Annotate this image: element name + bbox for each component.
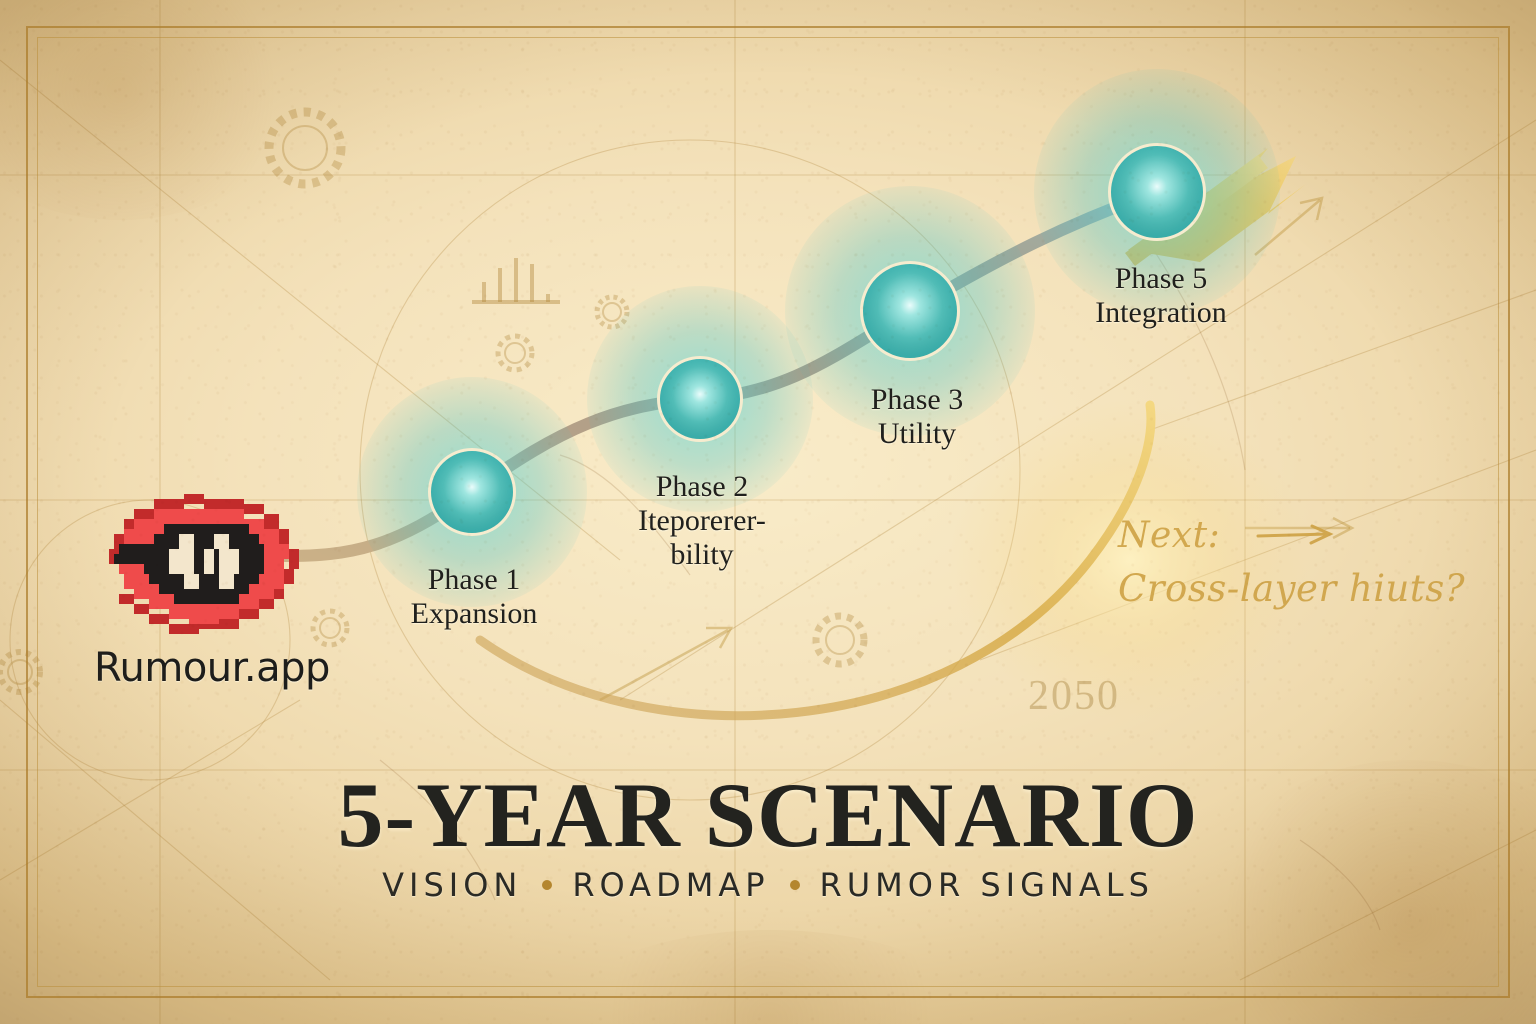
pixel-lips-logo-icon (109, 494, 309, 639)
paper-stain (0, 0, 300, 220)
subtitle-part-roadmap: ROADMAP (572, 866, 769, 904)
node-label-phase-3: Phase 3 Utility (871, 383, 964, 451)
subtitle: VISION ROADMAP RUMOR SIGNALS (0, 866, 1536, 904)
node-orb (428, 448, 516, 536)
brand-logo[interactable]: Rumour.app (94, 494, 324, 691)
note-line-2: Cross-layer hiuts? (1118, 562, 1478, 616)
brand-name: Rumour.app (94, 645, 324, 691)
separator-dot-icon (542, 880, 552, 890)
node-label-phase-1: Phase 1 Expansion (411, 563, 538, 631)
node-orb (860, 261, 960, 361)
page-title: 5-YEAR SCENARIO (0, 762, 1536, 868)
poster-canvas: Phase 1 Expansion Phase 2 Iteporerer- bi… (0, 0, 1536, 1024)
year-stamp: 2050 (1028, 672, 1120, 720)
paper-stain (560, 930, 980, 1024)
node-label-phase-2: Phase 2 Iteporerer- bility (638, 470, 766, 573)
separator-dot-icon (790, 880, 800, 890)
subtitle-part-vision: VISION (382, 866, 522, 904)
handwritten-note: Next: Cross-layer hiuts? (1118, 510, 1478, 616)
subtitle-part-rumor-signals: RUMOR SIGNALS (820, 866, 1154, 904)
note-line-1: Next: (1118, 515, 1220, 556)
node-orb (657, 356, 743, 442)
arrow-right-icon (1254, 523, 1338, 549)
node-orb (1108, 143, 1206, 241)
bar-chart-sketch-icon (472, 258, 560, 302)
node-label-phase-5: Phase 5 Integration (1095, 262, 1227, 330)
